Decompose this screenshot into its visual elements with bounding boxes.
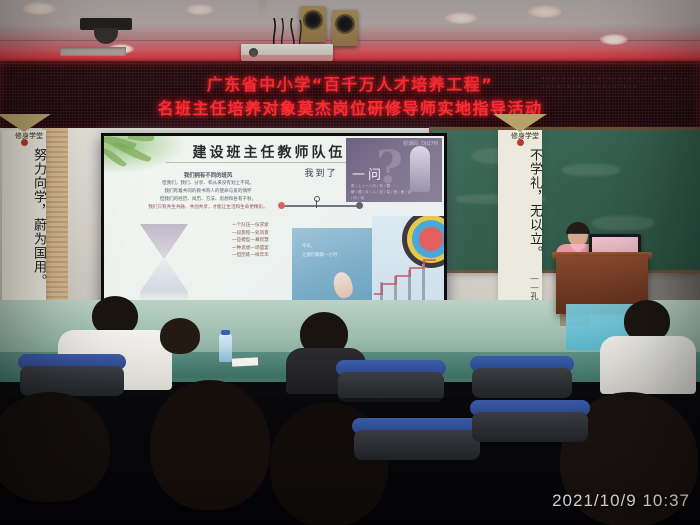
scroll-header-text: 修身学堂 <box>2 131 56 141</box>
attendee-torso <box>600 336 696 394</box>
led-spill-light <box>0 55 700 67</box>
wall-scroll-right: 修身学堂 不学礼，无以立。 ——孔子 <box>498 130 542 310</box>
question-panel-sub: 答 / 上 / 一 / 问 / 有 / 题 解 / 题 / 众 / 人 / 说 … <box>351 183 413 201</box>
scroll-header-text: 修身学堂 <box>498 131 552 141</box>
wall-scroll-left: 修身学堂 努力向学，蔚为国用。 <box>2 130 46 310</box>
slide-watermark: 授课码: DJQ7M <box>403 140 438 147</box>
camera-timestamp: 2021/10/9 10:37 <box>552 491 690 511</box>
slide-body-line: 但我们，我们、分享、和从来没有划上不同。 <box>118 180 298 188</box>
ceiling-downlight <box>22 2 56 15</box>
foreground-head <box>150 380 270 510</box>
question-panel-sub-line: 解 / 题 / 众 / 人 / 说 / 智 / 慧 / 面 / 这 / 问 / … <box>351 189 413 201</box>
seat <box>352 418 482 470</box>
ceiling-mount-bracket <box>80 18 132 46</box>
seat <box>470 400 590 450</box>
slide-body-line: 我们有着共同的教书育人的使命与爱的情怀 <box>118 188 298 196</box>
person-icon <box>312 196 320 210</box>
glasses-icon <box>569 233 587 238</box>
foreground-head <box>0 392 110 502</box>
slide-body-line: 但我们的经历、阅历、方法、思想和各有千秋。 <box>118 196 298 204</box>
led-banner: 广东省中小学“百千万人才培养工程” 名班主任培养对象莫杰岗位研修导师实地指导活动… <box>0 61 700 130</box>
question-panel: ? 授课码: DJQ7M 一问 答 / 上 / 一 / 问 / 有 / 题 解 … <box>346 138 442 202</box>
hand-graphic <box>331 270 355 300</box>
seal-icon <box>517 139 524 146</box>
led-panel-texture: ▪▫▪▫▪▫▪▫▪ ▫▪▫▪▫▪▫▪▫ ▪▫▪▫▪▫▪▫▪ ▫▪▫▪▫▪▫▪▫ … <box>542 75 692 119</box>
scroll-text: 不学礼，无以立。 <box>498 148 542 260</box>
ceiling <box>0 0 700 62</box>
ceiling-downlight <box>600 34 628 45</box>
trend-line <box>374 258 436 296</box>
slide-bullet-list: 一个队伍一份求索 一段旅程一处风景 一些模型一幕智慧 一种思想一场盛宴 一但历练… <box>232 222 269 260</box>
timeline-start-marker <box>278 202 285 209</box>
ceiling-downlight <box>528 5 562 18</box>
ceiling-downlight <box>186 4 214 15</box>
question-panel-heading: 一问 <box>352 164 384 183</box>
scroll-text: 努力向学，蔚为国用。 <box>2 148 46 288</box>
timeline-end-marker <box>356 202 363 209</box>
slide-body-line: 我们只有共生共融、共创共享，才能让生活和生命更精彩。 <box>118 204 298 212</box>
slide-body-text: 我们拥有不同的班风 但我们，我们、分享、和从来没有划上不同。 我们有着共同的教书… <box>118 172 298 212</box>
chart-panel <box>372 216 444 304</box>
list-item: 一段旅程一处风景 <box>232 230 269 238</box>
seat <box>470 356 574 402</box>
stair-step-chart <box>374 254 436 302</box>
presentation-slide: 建设班主任教师队伍 我们拥有不同的班风 但我们，我们、分享、和从来没有划上不同。… <box>104 136 444 308</box>
blue-panel-line: 让我们聊聊一小时 <box>302 251 337 260</box>
hourglass-graphic <box>134 224 194 302</box>
lightbulb-icon <box>410 146 430 192</box>
blue-panel-text: 今天， 让我们聊聊一小时 <box>302 242 337 260</box>
list-item: 一种思想一场盛宴 <box>232 245 269 253</box>
slide-title-rule <box>166 162 372 163</box>
attendee-head <box>160 318 200 354</box>
list-item: 一但历练一样年华 <box>232 252 269 260</box>
blue-panel-line: 今天， <box>302 242 337 251</box>
seal-icon <box>21 139 28 146</box>
slide-body-heading: 我们拥有不同的班风 <box>118 172 298 180</box>
wall-speaker <box>332 10 358 46</box>
list-item: 一个队伍一份求索 <box>232 222 269 230</box>
papers <box>232 357 258 366</box>
blue-handwriting-panel: 今天， 让我们聊聊一小时 <box>292 228 374 300</box>
water-bottle <box>219 334 232 362</box>
slide-title: 建设班主任教师队伍 <box>164 142 374 162</box>
list-item: 一些模型一幕智慧 <box>232 237 269 245</box>
projector-mount <box>258 0 267 22</box>
ceiling-downlight <box>445 12 477 24</box>
lecture-hall-photo: 广东省中小学“百千万人才培养工程” 名班主任培养对象莫杰岗位研修导师实地指导活动… <box>0 0 700 525</box>
projection-screen: 建设班主任教师队伍 我们拥有不同的班风 但我们，我们、分享、和从来没有划上不同。… <box>101 133 447 311</box>
